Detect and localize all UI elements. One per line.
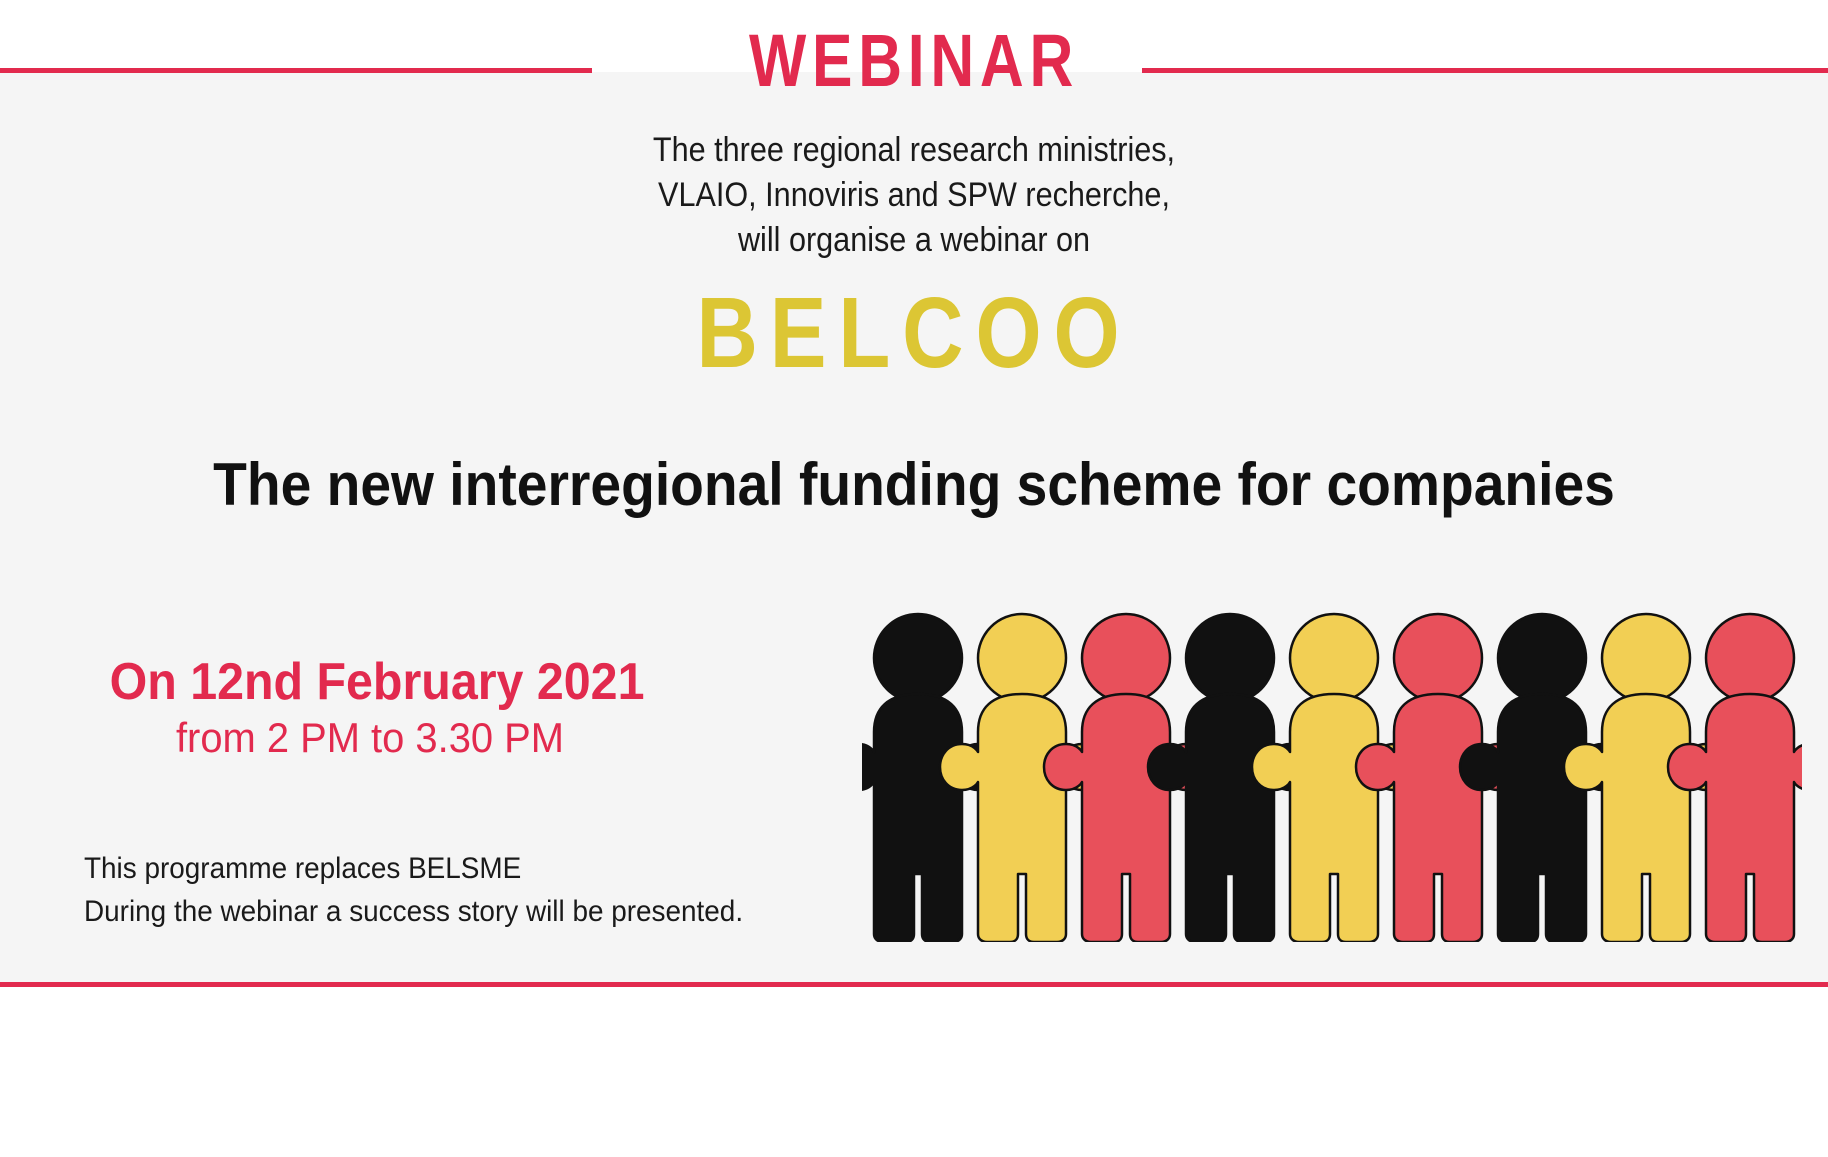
event-date: On 12nd February 2021 (110, 655, 631, 710)
note-line-1: This programme replaces BELSME (84, 848, 743, 891)
notes-block: This programme replaces BELSME During th… (84, 848, 743, 933)
note-line-2: During the webinar a success story will … (84, 891, 743, 934)
puzzle-people-illustration (862, 612, 1802, 942)
program-name: BELCOO (137, 283, 1691, 383)
intro-line-1: The three regional research ministries, (91, 128, 1736, 173)
footer-logos: AGENTSCHAP INNOVEREN & ONDERNEMEN (0, 987, 1828, 1157)
intro-paragraph: The three regional research ministries, … (91, 128, 1736, 264)
program-headline: The new interregional funding scheme for… (73, 455, 1755, 515)
event-datetime: On 12nd February 2021 from 2 PM to 3.30 … (90, 655, 650, 766)
webinar-poster: WEBINAR The three regional research mini… (0, 0, 1828, 1157)
intro-line-2: VLAIO, Innoviris and SPW recherche, (91, 173, 1736, 218)
page-title: WEBINAR (165, 24, 1664, 98)
event-time: from 2 PM to 3.30 PM (104, 710, 636, 767)
intro-line-3: will organise a webinar on (91, 218, 1736, 263)
